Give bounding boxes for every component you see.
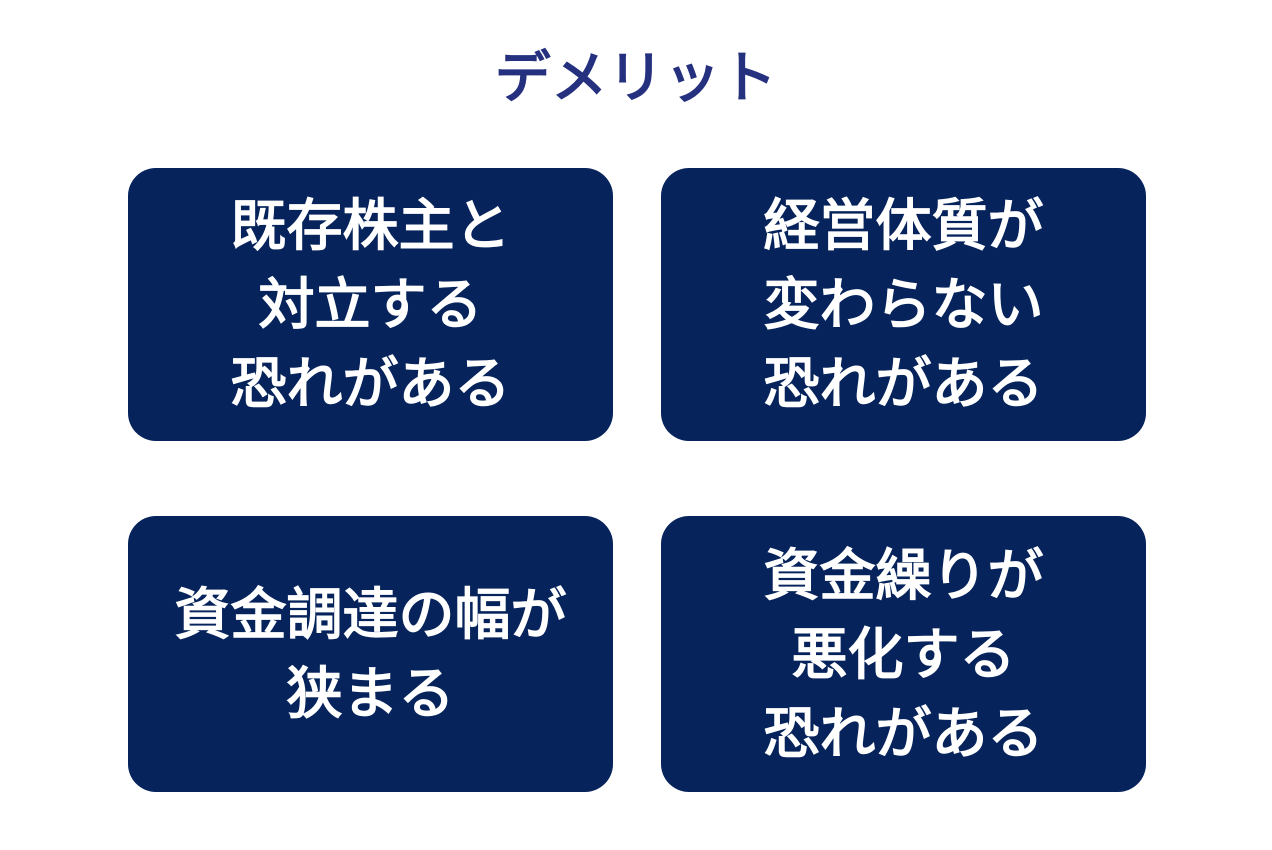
demerit-card-text: 資金繰りが 悪化する 恐れがある	[764, 536, 1044, 773]
demerit-card-financing-range-narrows[interactable]: 資金調達の幅が 狭まる	[128, 516, 613, 792]
slide-root: デメリット 既存株主と 対立する 恐れがある 経営体質が 変わらない 恐れがある…	[0, 0, 1272, 850]
demerit-card-text: 資金調達の幅が 狭まる	[175, 575, 567, 733]
demerit-card-management-culture-unchanged[interactable]: 経営体質が 変わらない 恐れがある	[661, 168, 1146, 441]
demerit-card-text: 経営体質が 変わらない 恐れがある	[764, 186, 1044, 423]
demerit-card-grid: 既存株主と 対立する 恐れがある 経営体質が 変わらない 恐れがある 資金調達の…	[128, 168, 1146, 792]
demerit-card-existing-shareholder-conflict[interactable]: 既存株主と 対立する 恐れがある	[128, 168, 613, 441]
page-title: デメリット	[0, 46, 1272, 110]
demerit-card-text: 既存株主と 対立する 恐れがある	[231, 186, 511, 423]
demerit-card-cashflow-deteriorates[interactable]: 資金繰りが 悪化する 恐れがある	[661, 516, 1146, 792]
